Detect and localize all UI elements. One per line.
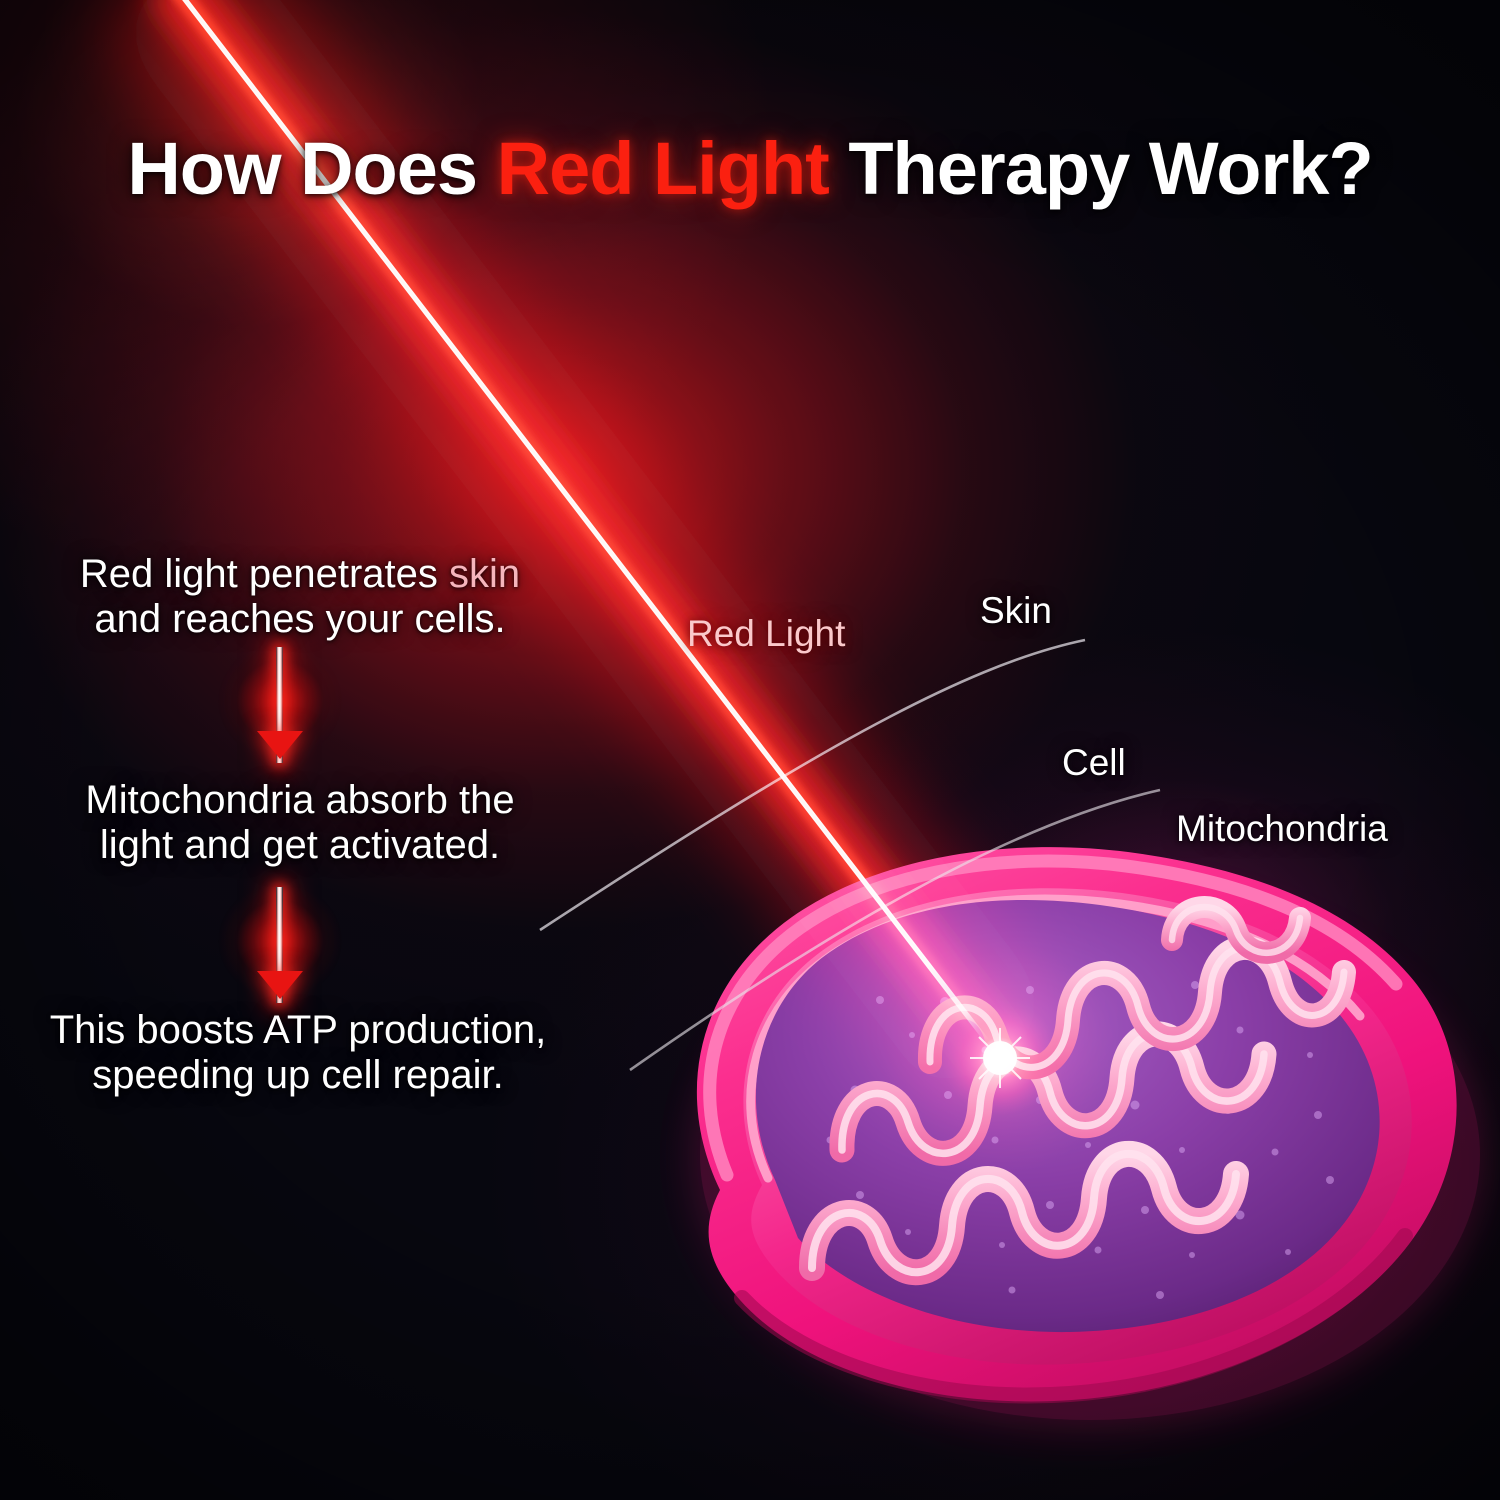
down-arrow-beam-icon-1 [205, 645, 355, 765]
arrow-head-1 [257, 731, 303, 759]
page-title: How Does Red Light Therapy Work? [0, 126, 1500, 211]
callout-label-cell: Cell [1062, 742, 1126, 784]
step-1-text: Red light penetrates skin and reaches yo… [20, 552, 580, 642]
step-2-text: Mitochondria absorb the light and get ac… [20, 778, 580, 868]
step-1-keyword-skin: skin [449, 552, 520, 596]
step-3-line-2: speeding up cell repair. [8, 1053, 588, 1098]
step-3-line-1: This boosts ATP production, [8, 1008, 588, 1053]
laser-impact-flare [882, 940, 1118, 1176]
title-part-2: Therapy Work? [829, 127, 1373, 210]
arrow-head-2 [257, 971, 303, 999]
title-part-1: How Does [127, 127, 496, 210]
callout-label-skin: Skin [980, 590, 1052, 632]
step-2-line-1: Mitochondria absorb the [20, 778, 580, 823]
step-3-text: This boosts ATP production, speeding up … [8, 1008, 588, 1098]
callout-label-red-light: Red Light [687, 613, 845, 655]
step-2-line-2: light and get activated. [20, 823, 580, 868]
down-arrow-beam-icon-2 [205, 885, 355, 1005]
step-1-line-1-pre: Red light penetrates [80, 552, 449, 596]
title-highlight: Red Light [497, 127, 829, 210]
infographic-canvas: How Does Red Light Therapy Work? Red lig… [0, 0, 1500, 1500]
step-1-line-1: Red light penetrates skin [20, 552, 580, 597]
callout-label-mitochondria: Mitochondria [1176, 808, 1388, 850]
step-1-line-2: and reaches your cells. [20, 597, 580, 642]
